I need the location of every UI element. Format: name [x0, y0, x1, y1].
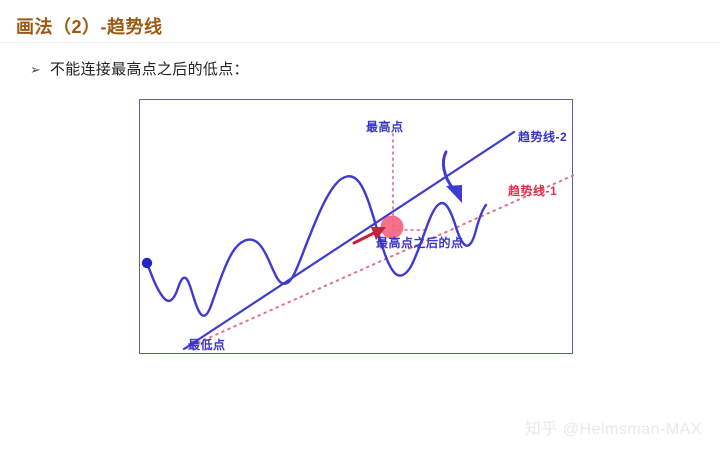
- bullet-text: 不能连接最高点之后的低点：: [50, 58, 249, 79]
- bullet-row: ➢ 不能连接最高点之后的低点：: [30, 58, 249, 79]
- series-trend-line-1: [186, 175, 574, 348]
- slide-canvas: 画法（2）-趋势线 ➢ 不能连接最高点之后的低点：: [0, 0, 720, 451]
- chart-label-point-after-peak: 最高点之后的点: [376, 234, 464, 251]
- chart-label-peak: 最高点: [366, 118, 404, 135]
- chart-label-trend-line-1: 趋势线-1: [508, 182, 557, 199]
- page-title: 画法（2）-趋势线: [16, 13, 163, 39]
- arrow-bullet-icon: ➢: [30, 63, 41, 76]
- chart-drawing: [140, 100, 574, 355]
- trendline-chart: 最高点 趋势线-2 趋势线-1 最高点之后的点 最低点: [139, 99, 573, 354]
- blue-down-arrow-icon: [443, 152, 462, 203]
- chart-label-trend-line-2: 趋势线-2: [518, 128, 567, 145]
- wave-start-dot: [142, 258, 152, 268]
- series-trend-line-2: [184, 132, 514, 349]
- title-divider: [0, 42, 720, 43]
- chart-label-low: 最低点: [188, 336, 226, 353]
- watermark: 知乎 @Helmsman-MAX: [525, 415, 702, 439]
